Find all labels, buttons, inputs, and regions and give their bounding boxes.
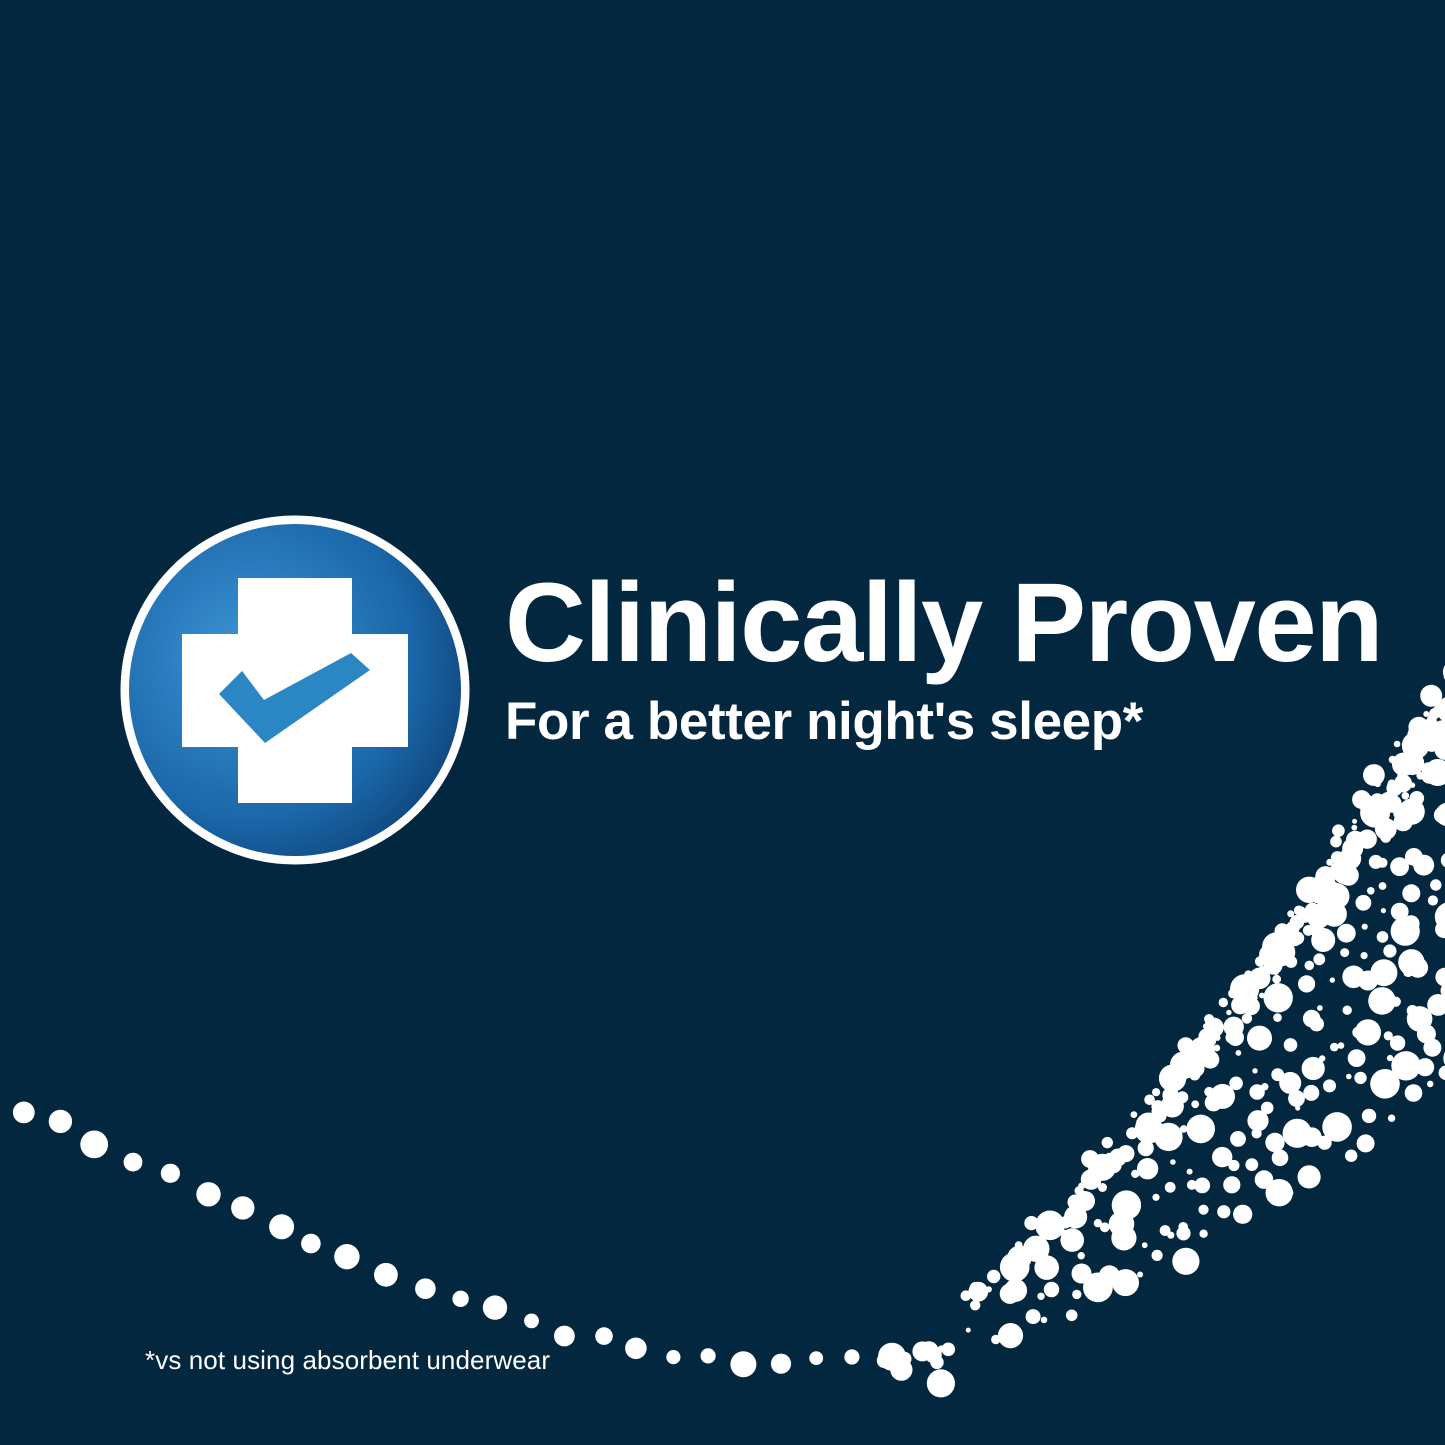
clinically-proven-badge bbox=[118, 513, 472, 867]
page-subtitle: For a better night's sleep* bbox=[505, 680, 1405, 750]
footnote-disclaimer: *vs not using absorbent underwear bbox=[145, 1345, 550, 1376]
poster-canvas: Clinically Proven For a better night's s… bbox=[0, 0, 1445, 1445]
medical-cross-check-icon bbox=[118, 513, 472, 867]
page-title: Clinically Proven bbox=[505, 566, 1405, 680]
headline-block: Clinically Proven For a better night's s… bbox=[505, 566, 1405, 750]
